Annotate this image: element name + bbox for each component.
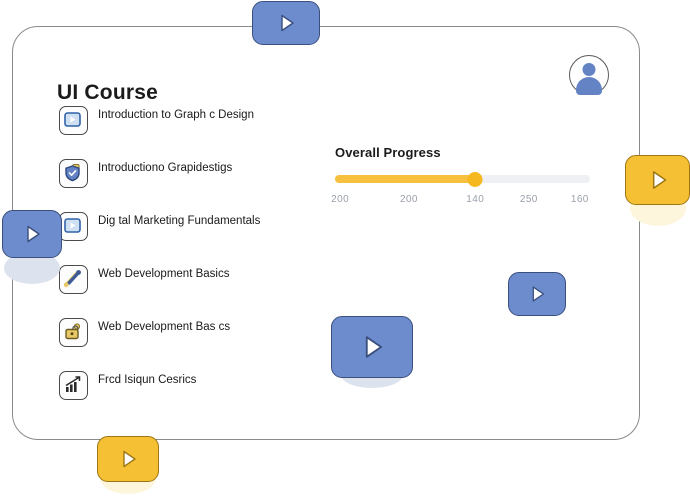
avatar-body-icon [576, 77, 602, 95]
list-item[interactable]: Dig tal Marketing Fundamentals [59, 209, 349, 262]
course-list: Introduction to Graph c Design Introduct… [59, 103, 349, 421]
play-icon [355, 330, 389, 364]
tools-wrench-icon [59, 265, 88, 294]
tick-label: 160 [571, 194, 589, 205]
play-icon [115, 446, 141, 472]
play-button-center[interactable] [331, 316, 413, 378]
list-item-title: Web Development Bas cs [98, 321, 230, 333]
video-player-icon [59, 106, 88, 135]
lock-folder-icon [59, 318, 88, 347]
tick-label: 140 [466, 194, 484, 205]
tick-label: 200 [331, 194, 349, 205]
play-icon [19, 221, 45, 247]
progress-fill [335, 175, 475, 183]
progress-slider[interactable] [335, 175, 590, 183]
list-item[interactable]: Web Development Bas cs [59, 315, 349, 368]
tick-label: 250 [520, 194, 538, 205]
list-item-text: Introduction to Graph c Design [98, 103, 254, 123]
play-button-top[interactable] [252, 1, 320, 45]
list-item[interactable]: Frcd Isiqun Cesrics [59, 368, 349, 421]
play-button-right[interactable] [625, 155, 690, 205]
shield-check-icon [59, 159, 88, 188]
tick-label: 200 [400, 194, 418, 205]
play-icon [525, 282, 549, 306]
list-item-title: Introduction to Graph c Design [98, 109, 254, 121]
progress-tick-labels: 200 200 140 250 160 [335, 194, 590, 208]
play-button-left[interactable] [2, 210, 62, 258]
list-item-title: Dig tal Marketing Fundamentals [98, 215, 260, 227]
list-item-text: Dig tal Marketing Fundamentals [98, 209, 260, 229]
list-item-text: Introductiono Grapidestigs [98, 156, 232, 176]
list-item-text: Web Development Bas cs [98, 315, 230, 335]
list-item-text: Web Development Basics [98, 262, 229, 282]
list-item[interactable]: Introductiono Grapidestigs [59, 156, 349, 209]
play-icon [644, 166, 672, 194]
video-player-icon [59, 212, 88, 241]
bar-chart-growth-icon [59, 371, 88, 400]
play-icon [273, 10, 299, 36]
progress-panel: Overall Progress 200 200 140 250 160 [335, 145, 615, 208]
list-item-text: Frcd Isiqun Cesrics [98, 368, 196, 388]
list-item-title: Introductiono Grapidestigs [98, 162, 232, 174]
play-button-bottom[interactable] [97, 436, 159, 482]
progress-label: Overall Progress [335, 145, 615, 160]
play-button-mid-right[interactable] [508, 272, 566, 316]
list-item-title: Web Development Basics [98, 268, 229, 280]
page-title: UI Course [57, 81, 158, 105]
list-item[interactable]: Introduction to Graph c Design [59, 103, 349, 156]
avatar-head-icon [583, 63, 596, 76]
list-item-title: Frcd Isiqun Cesrics [98, 374, 196, 386]
progress-knob[interactable] [468, 172, 483, 187]
avatar[interactable] [569, 55, 609, 95]
list-item[interactable]: Web Development Basics [59, 262, 349, 315]
course-card: UI Course Introduction to Graph c Design [12, 26, 640, 440]
